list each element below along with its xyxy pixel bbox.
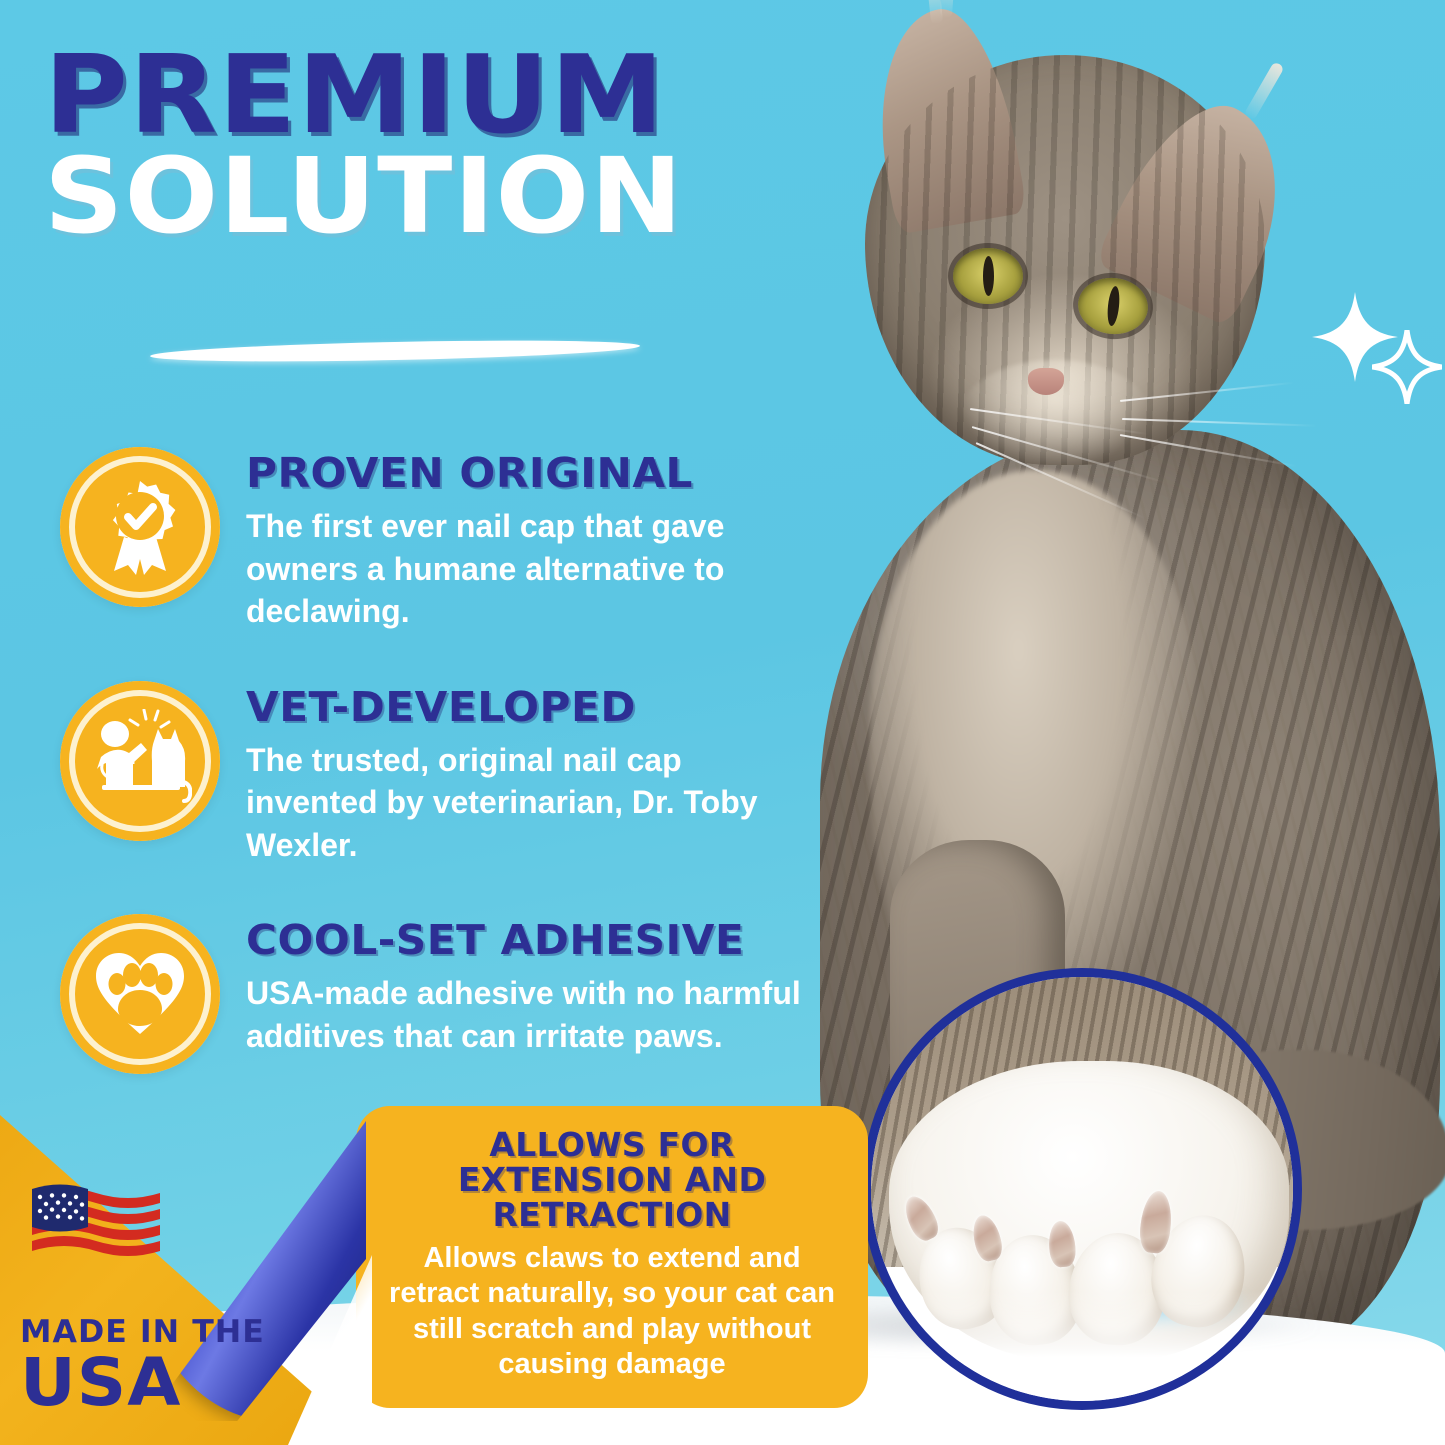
paw-closeup-inset (862, 968, 1302, 1410)
feature-description: The trusted, original nail cap invented … (246, 739, 820, 867)
vet-high-five-cat-icon (60, 681, 220, 841)
made-in-usa-text: MADE IN THE USA (20, 1314, 270, 1415)
paw-photo (871, 977, 1293, 1401)
callout-description: Allows claws to extend and retract natur… (382, 1241, 842, 1383)
extension-retraction-callout: ALLOWS FOR EXTENSION AND RETRACTION Allo… (356, 1106, 868, 1408)
feature-title: COOL-SET ADHESIVE (246, 916, 837, 964)
feature-item-proven-original: PROVEN ORIGINAL The first ever nail cap … (60, 445, 820, 633)
product-feature-ad: PREMIUM SOLUTION PROVEN ORIGINAL The fi (0, 0, 1445, 1445)
feature-title: VET-DEVELOPED (246, 683, 837, 731)
made-in-usa-line-2: USA (20, 1352, 280, 1415)
paw-bottom-fade (862, 1291, 1302, 1410)
sparkle-star-icon-small (1372, 330, 1442, 404)
made-in-usa-corner: MADE IN THE USA (0, 1115, 372, 1445)
headline-line-2: SOLUTION (44, 151, 871, 243)
headline-underline-swoosh (150, 337, 640, 365)
feature-title: PROVEN ORIGINAL (246, 449, 740, 497)
award-ribbon-check-icon (60, 447, 220, 607)
cat-ear-tuft (1243, 61, 1284, 121)
feature-item-cool-set-adhesive: COOL-SET ADHESIVE USA-made adhesive with… (60, 912, 820, 1074)
feature-description: USA-made adhesive with no harmful additi… (246, 972, 820, 1057)
usa-flag-icon (32, 1183, 160, 1265)
headline-block: PREMIUM SOLUTION (44, 48, 824, 243)
feature-item-vet-developed: VET-DEVELOPED The trusted, original nail… (60, 679, 820, 867)
heart-paw-icon (60, 914, 220, 1074)
headline-line-1: PREMIUM (44, 48, 871, 143)
feature-description: The first ever nail cap that gave owners… (246, 505, 726, 633)
callout-title: ALLOWS FOR EXTENSION AND RETRACTION (382, 1128, 842, 1233)
feature-list: PROVEN ORIGINAL The first ever nail cap … (60, 445, 820, 1120)
cat-eye-left (953, 248, 1023, 304)
